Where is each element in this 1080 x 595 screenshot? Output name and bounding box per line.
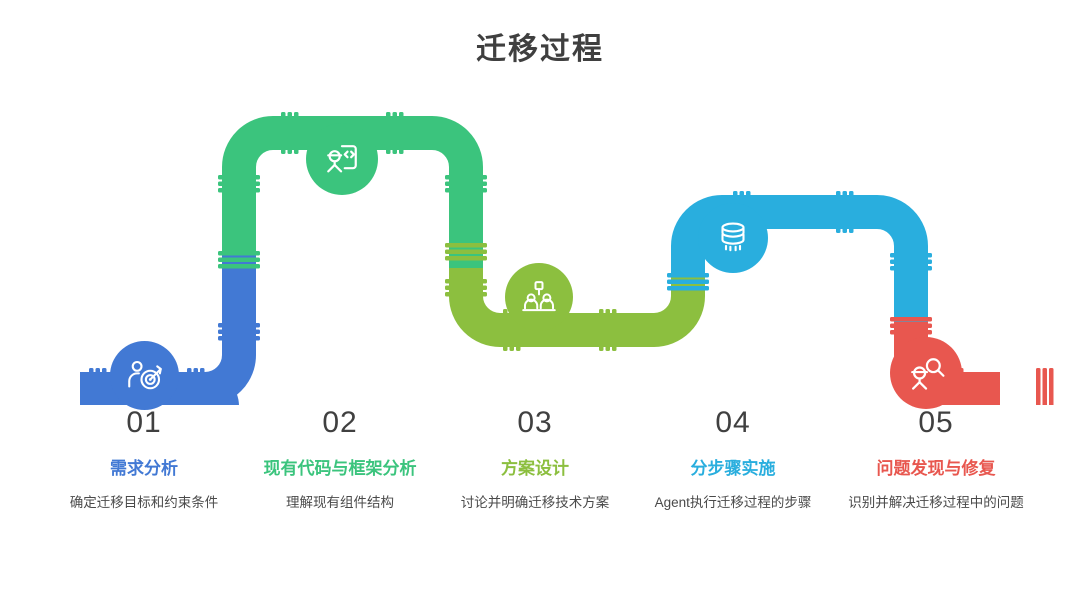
step-1: 01 需求分析 确定迁移目标和约束条件 bbox=[44, 405, 244, 513]
step-number: 05 bbox=[834, 405, 1038, 441]
pipe-collar bbox=[445, 175, 487, 193]
team-meeting-icon bbox=[518, 276, 560, 318]
infographic-canvas: 迁移过程 bbox=[0, 0, 1080, 595]
pipe-collar bbox=[218, 323, 260, 341]
developer-code-icon bbox=[320, 137, 364, 181]
pipe-collar bbox=[89, 368, 107, 405]
person-search-icon bbox=[904, 351, 948, 395]
step-description: 讨论并明确迁移技术方案 bbox=[440, 492, 630, 514]
pipe-collar-transition bbox=[218, 251, 260, 269]
pipe-collar bbox=[445, 279, 487, 297]
step-number: 03 bbox=[440, 405, 630, 441]
step-title: 现有代码与框架分析 bbox=[243, 457, 437, 482]
step-badge-1[interactable] bbox=[110, 341, 179, 410]
step-badge-4[interactable] bbox=[698, 203, 768, 273]
pipe-collar bbox=[281, 112, 299, 154]
pipe-collar-transition bbox=[445, 243, 487, 261]
pipe-segment-lime bbox=[466, 268, 688, 330]
step-description: 识别并解决迁移过程中的问题 bbox=[834, 492, 1038, 514]
step-description: 理解现有组件结构 bbox=[243, 492, 437, 514]
step-description: 确定迁移目标和约束条件 bbox=[44, 492, 244, 514]
pipe-collar bbox=[386, 112, 404, 154]
step-description: Agent执行迁移过程的步骤 bbox=[627, 492, 839, 514]
page-title: 迁移过程 bbox=[0, 24, 1080, 68]
step-labels: 01 需求分析 确定迁移目标和约束条件 02 现有代码与框架分析 理解现有组件结… bbox=[0, 405, 1080, 595]
step-5: 05 问题发现与修复 识别并解决迁移过程中的问题 bbox=[834, 405, 1038, 513]
database-icon bbox=[712, 217, 754, 259]
pipe-collar bbox=[218, 175, 260, 193]
pipe-collar-transition bbox=[890, 317, 932, 335]
step-number: 04 bbox=[627, 405, 839, 441]
step-number: 01 bbox=[44, 405, 244, 441]
pipe-collar bbox=[836, 191, 854, 233]
step-3: 03 方案设计 讨论并明确迁移技术方案 bbox=[440, 405, 630, 513]
pipe-collar bbox=[599, 309, 617, 351]
step-title: 问题发现与修复 bbox=[834, 457, 1038, 482]
step-badge-5[interactable] bbox=[890, 337, 962, 409]
step-number: 02 bbox=[243, 405, 437, 441]
step-4: 04 分步骤实施 Agent执行迁移过程的步骤 bbox=[627, 405, 839, 513]
pipe-collar bbox=[187, 368, 205, 405]
step-2: 02 现有代码与框架分析 理解现有组件结构 bbox=[243, 405, 437, 513]
pipe-collar bbox=[890, 253, 932, 271]
pipe-collar bbox=[1036, 368, 1054, 405]
step-title: 方案设计 bbox=[440, 457, 630, 482]
step-badge-3[interactable] bbox=[505, 263, 573, 331]
step-title: 需求分析 bbox=[44, 457, 244, 482]
step-title: 分步骤实施 bbox=[627, 457, 839, 482]
pipe-collar-transition bbox=[667, 273, 709, 291]
step-badge-2[interactable] bbox=[306, 123, 378, 195]
person-target-icon bbox=[124, 355, 166, 397]
